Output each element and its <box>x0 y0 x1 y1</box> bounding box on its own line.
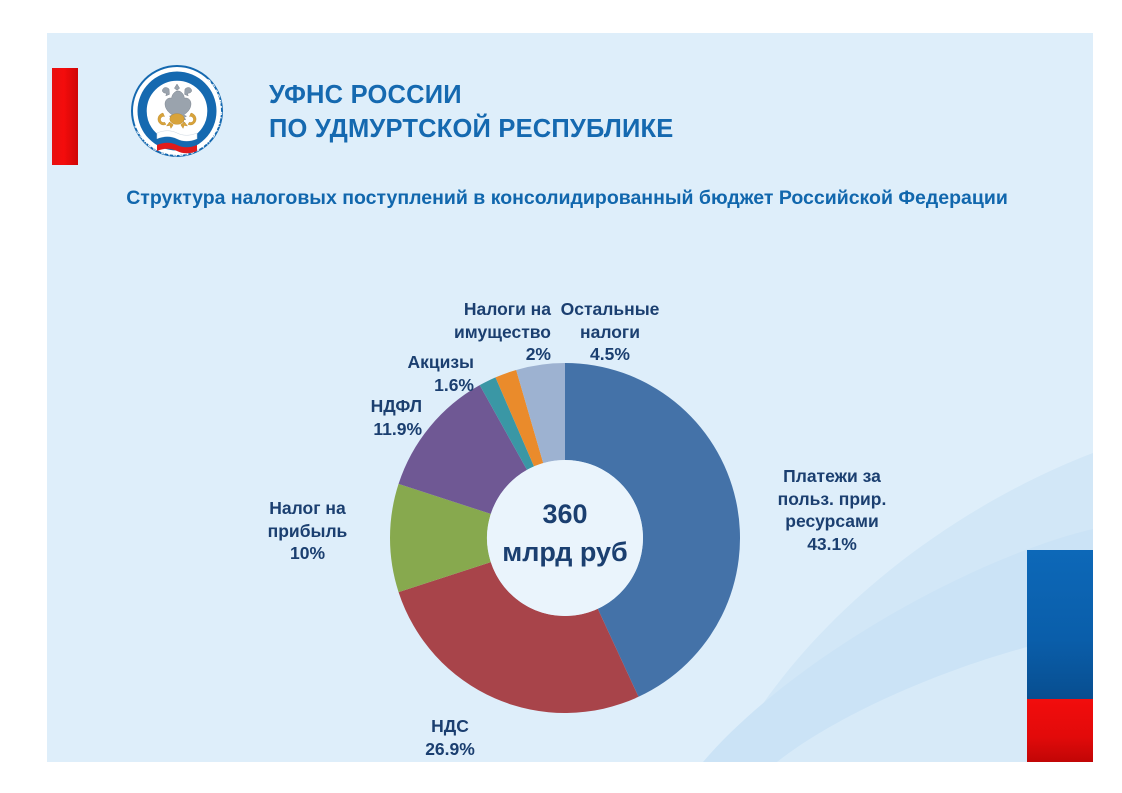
slice-label-ndfl-text: НДФЛ <box>371 396 422 416</box>
slice-label-natural-resources: Платежи за польз. прир. ресурсами 43.1% <box>737 443 927 577</box>
donut-center-label: 360 млрд руб <box>485 495 645 572</box>
donut-chart: 360 млрд руб Налоги на имущество 2% Оста… <box>47 33 1093 762</box>
slide-canvas: ФЕДЕРАЛЬНАЯ НАЛОГОВАЯ СЛУЖБА <box>47 33 1093 762</box>
slice-label-other-taxes: Остальные налоги 4.5% <box>547 276 673 388</box>
slice-label-other-taxes-text: Остальные налоги <box>561 299 660 341</box>
slice-label-profit-tax: Налог на прибыль 10% <box>245 475 370 587</box>
slice-label-excise-text: Акцизы <box>407 352 474 372</box>
center-value: 360 <box>542 499 587 529</box>
slice-label-nds-text: НДС <box>431 716 469 736</box>
slice-label-natural-resources-pct: 43.1% <box>737 533 927 555</box>
slice-label-nds: НДС 26.9% <box>387 693 513 762</box>
slice-label-profit-tax-text: Налог на прибыль <box>268 498 348 540</box>
slice-label-ndfl-pct: 11.9% <box>305 418 422 440</box>
center-unit: млрд руб <box>502 537 627 567</box>
slice-label-natural-resources-text: Платежи за польз. прир. ресурсами <box>778 466 887 531</box>
slice-label-other-taxes-pct: 4.5% <box>547 343 673 365</box>
slice-label-nds-pct: 26.9% <box>387 738 513 760</box>
slice-label-ndfl: НДФЛ 11.9% <box>305 373 422 463</box>
slice-label-profit-tax-pct: 10% <box>245 542 370 564</box>
